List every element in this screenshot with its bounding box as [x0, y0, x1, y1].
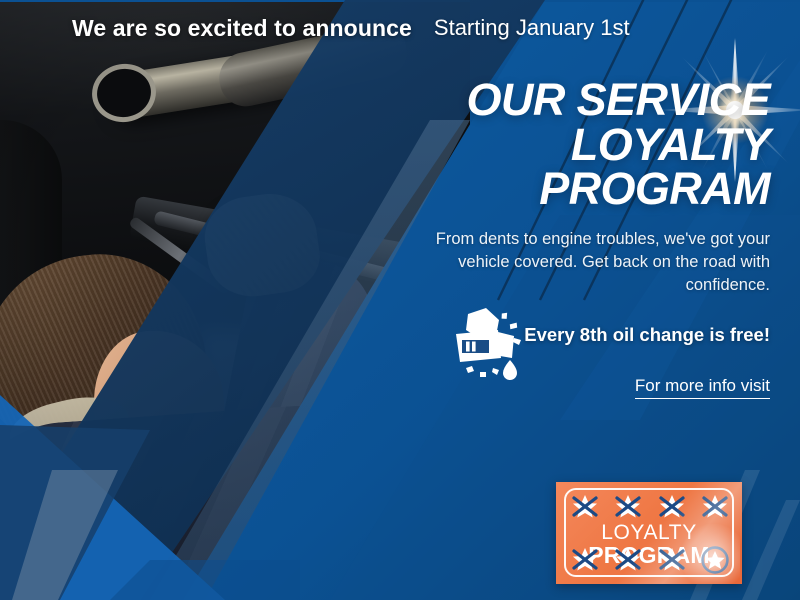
- loyalty-stamp-row-top: [570, 493, 730, 521]
- star-stamp-icon[interactable]: [700, 493, 730, 521]
- service-loyalty-program-poster: We are so excited to announce Starting J…: [0, 0, 800, 600]
- announcement-bar: We are so excited to announce Starting J…: [0, 0, 800, 56]
- star-stamp-icon[interactable]: [613, 493, 643, 521]
- description-text: From dents to engine troubles, we've got…: [400, 228, 770, 298]
- page-title: OUR SERVICE LOYALTY PROGRAM: [400, 78, 770, 212]
- announcement-lead-text: We are so excited to announce: [72, 15, 412, 42]
- headline-line-2: LOYALTY: [400, 123, 770, 168]
- star-circled-icon[interactable]: [700, 546, 730, 574]
- loyalty-card[interactable]: LOYALTY PROGRAM: [556, 482, 742, 584]
- headline-line-3: PROGRAM: [400, 167, 770, 212]
- loyalty-card-title: LOYALTY: [556, 522, 742, 543]
- loyalty-stamp-row-bottom: [570, 546, 730, 574]
- more-info-link[interactable]: For more info visit: [635, 376, 770, 399]
- star-stamp-icon[interactable]: [570, 546, 600, 574]
- star-stamp-icon[interactable]: [613, 546, 643, 574]
- star-stamp-icon[interactable]: [657, 546, 687, 574]
- star-stamp-icon[interactable]: [657, 493, 687, 521]
- start-date-text: Starting January 1st: [434, 15, 630, 41]
- headline-line-1: OUR SERVICE: [400, 78, 770, 123]
- oil-pour-icon: [452, 306, 534, 384]
- star-stamp-icon[interactable]: [570, 493, 600, 521]
